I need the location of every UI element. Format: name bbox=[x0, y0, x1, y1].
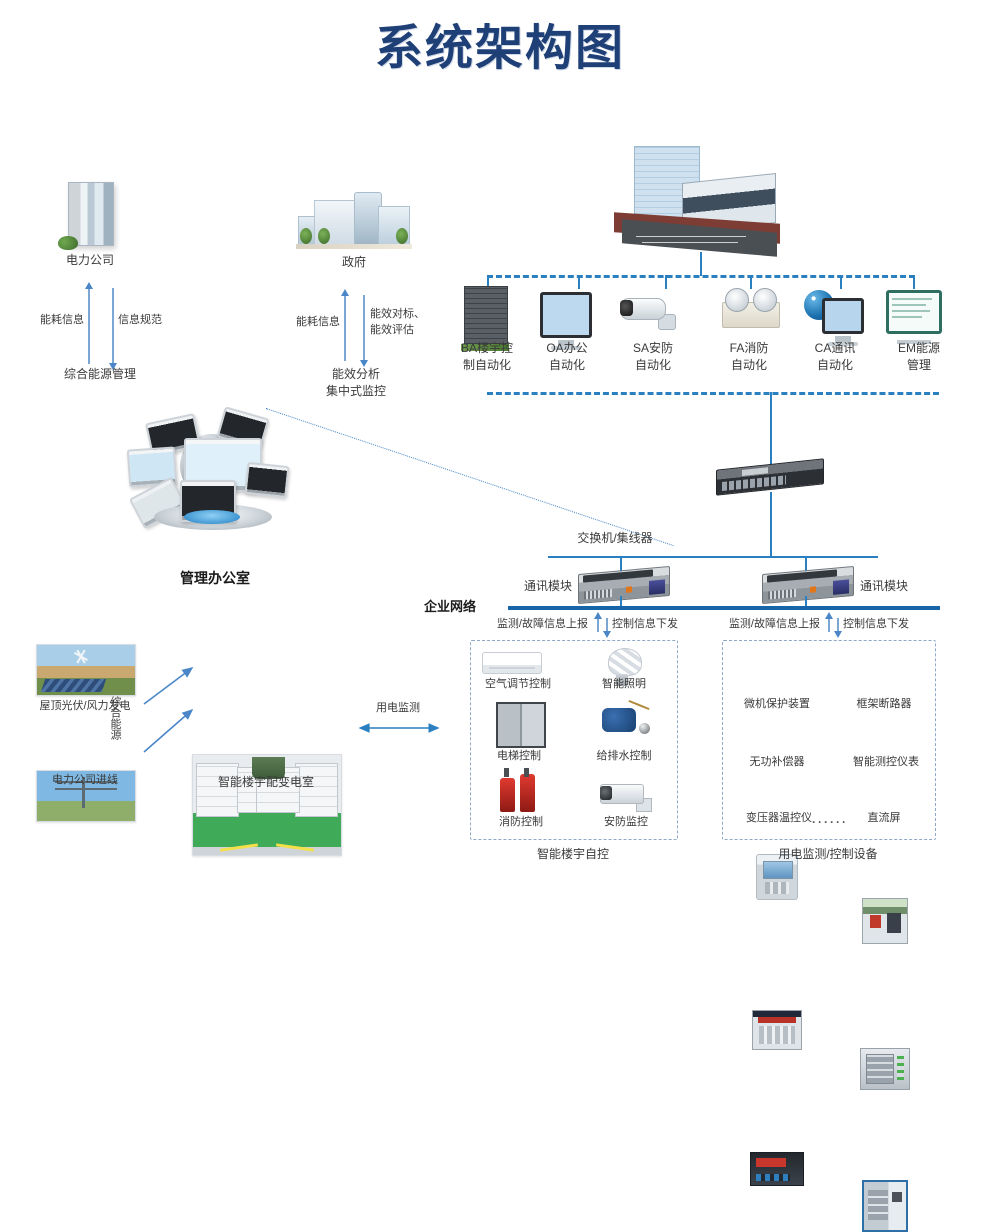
subsystem-drop-4 bbox=[750, 275, 752, 289]
subsystem-drop-3 bbox=[665, 275, 667, 289]
power-company-building-icon bbox=[68, 182, 114, 246]
group1-label-1: 智能照明 bbox=[580, 676, 668, 693]
subsystem-drop-5 bbox=[840, 275, 842, 289]
temperature-controller-icon bbox=[750, 1152, 804, 1186]
substation-label: 智能楼宇配变电室 bbox=[192, 774, 340, 791]
flow-up-label-2: 监测/故障信息上报 bbox=[710, 616, 820, 633]
multi-monitor-globe-icon bbox=[128, 412, 298, 532]
switch-uplink-line bbox=[770, 392, 772, 464]
security-camera-icon bbox=[620, 296, 678, 330]
group2-label-2: 无功补偿器 bbox=[728, 754, 826, 771]
fire-extinguisher-icon bbox=[500, 768, 542, 812]
energy-analysis-label: 能效分析 集中式监控 bbox=[300, 366, 412, 400]
subsystem-label-fa: FA消防 自动化 bbox=[710, 340, 788, 374]
communication-module-icon-1 bbox=[578, 570, 670, 600]
subsystem-bottom-bus bbox=[487, 392, 939, 395]
dc-panel-icon bbox=[862, 1180, 908, 1232]
government-label: 政府 bbox=[294, 254, 414, 271]
government-down-arrow-label: 能效对标、 能效评估 bbox=[370, 306, 440, 338]
renewable-source-label: 屋顶光伏/风力发电 bbox=[14, 698, 156, 715]
group1-label-0: 空气调节控制 bbox=[472, 676, 564, 693]
government-building-icon bbox=[296, 190, 412, 246]
integrated-energy-management-label: 综合能源管理 bbox=[30, 366, 170, 383]
group1-label-3: 给排水控制 bbox=[578, 748, 670, 765]
government-up-arrow-label: 能耗信息 bbox=[278, 314, 340, 331]
power-company-down-arrow bbox=[112, 288, 114, 364]
surveillance-camera-icon bbox=[600, 780, 656, 812]
management-office-label: 管理办公室 bbox=[120, 570, 310, 587]
power-monitor-double-arrow bbox=[352, 722, 446, 734]
group2-label-3: 智能测控仪表 bbox=[834, 754, 938, 771]
flow-up-label-1: 监测/故障信息上报 bbox=[478, 616, 588, 633]
switch-label: 交换机/集线器 bbox=[520, 530, 710, 547]
enterprise-network-label: 企业网络 bbox=[424, 598, 504, 615]
flow-down-label-1: 控制信息下发 bbox=[612, 616, 702, 633]
reactive-compensator-icon bbox=[752, 1010, 802, 1050]
subsystem-label-sa: SA安防 自动化 bbox=[614, 340, 692, 374]
wind-solar-photo bbox=[36, 644, 136, 696]
desktop-monitor-icon bbox=[540, 292, 592, 338]
switch-downlink-line bbox=[770, 492, 772, 556]
integrated-energy-arrow-label: 综合能源 bbox=[104, 696, 124, 740]
flow-up-arrow-1 bbox=[597, 618, 599, 632]
subsystem-label-ca: CA通讯 自动化 bbox=[796, 340, 874, 374]
network-switch-icon bbox=[716, 464, 824, 490]
diagram-canvas: 系统架构图 电力公司 能耗信息 信息规范 综合能源管理 政府 能耗信息 能效对标… bbox=[0, 0, 1000, 889]
globe-monitor-icon bbox=[804, 290, 862, 338]
comm-module-label-1: 通讯模块 bbox=[496, 578, 572, 595]
campus-trunk-line bbox=[700, 252, 702, 276]
campus-building-icon bbox=[612, 146, 782, 251]
water-valve-icon bbox=[598, 700, 650, 738]
group2-label-0: 微机保护装置 bbox=[726, 696, 828, 713]
smart-meter-icon bbox=[860, 1048, 910, 1090]
subsystem-label-oa: OA办公 自动化 bbox=[528, 340, 606, 374]
page-title: 系统架构图 bbox=[0, 8, 1000, 78]
comm-module-label-2: 通讯模块 bbox=[860, 578, 936, 595]
power-company-label: 电力公司 bbox=[30, 252, 150, 269]
grid-source-label: 电力公司进线 bbox=[20, 772, 150, 789]
building-automation-caption: 智能楼宇自控 bbox=[470, 846, 676, 863]
group2-ellipsis: ······ bbox=[790, 814, 870, 831]
flow-up-arrow-2 bbox=[828, 618, 830, 632]
air-circuit-breaker-icon bbox=[862, 898, 908, 944]
emergency-light-icon bbox=[722, 288, 778, 328]
flow-down-arrow-2 bbox=[837, 618, 839, 632]
power-company-down-arrow-label: 信息规范 bbox=[118, 312, 184, 329]
subsystem-label-em: EM能源 管理 bbox=[880, 340, 958, 374]
power-monitor-arrow-label: 用电监测 bbox=[348, 700, 448, 717]
subsystem-drop-2 bbox=[578, 275, 580, 289]
energy-dashboard-icon bbox=[886, 290, 942, 344]
elevator-icon bbox=[496, 702, 546, 748]
group1-label-5: 安防监控 bbox=[582, 814, 670, 831]
enterprise-network-bus bbox=[508, 606, 940, 610]
government-down-arrow bbox=[363, 295, 365, 361]
office-to-campus-link bbox=[266, 408, 674, 546]
subsystem-top-bus bbox=[487, 275, 915, 278]
power-monitoring-caption: 用电监测/控制设备 bbox=[722, 846, 934, 863]
subsystem-drop-6 bbox=[913, 275, 915, 289]
group1-label-4: 消防控制 bbox=[476, 814, 566, 831]
group2-label-1: 框架断路器 bbox=[834, 696, 934, 713]
group1-label-2: 电梯控制 bbox=[474, 748, 564, 765]
subsystem-label-ba: BA楼宇控 制自动化 bbox=[448, 340, 526, 374]
communication-module-icon-2 bbox=[762, 570, 854, 600]
flow-down-arrow-1 bbox=[606, 618, 608, 632]
power-company-up-arrow bbox=[88, 288, 90, 364]
air-conditioner-icon bbox=[482, 652, 542, 674]
power-company-up-arrow-label: 能耗信息 bbox=[24, 312, 84, 329]
substation-room-photo bbox=[192, 754, 342, 856]
comm-module-bus bbox=[548, 556, 878, 558]
government-up-arrow bbox=[344, 295, 346, 361]
flow-down-label-2: 控制信息下发 bbox=[843, 616, 933, 633]
